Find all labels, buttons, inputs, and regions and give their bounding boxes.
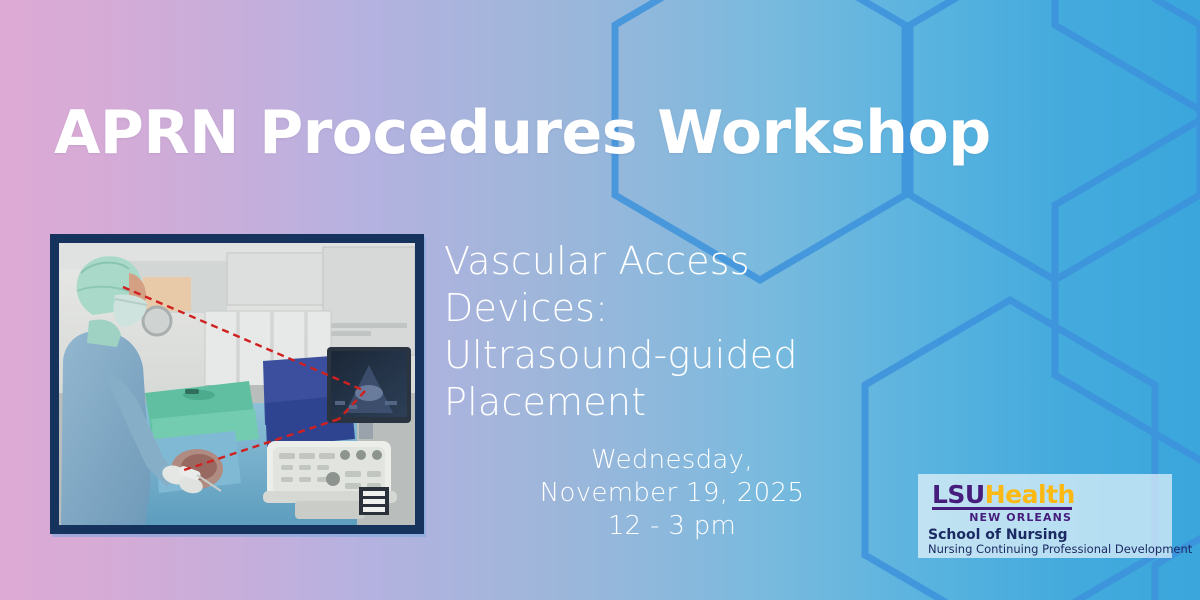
subtitle-line-2: Devices: <box>444 285 864 332</box>
event-datetime: Wednesday, November 19, 2025 12 - 3 pm <box>452 444 892 543</box>
workshop-subtitle: Vascular Access Devices: Ultrasound-guid… <box>444 238 864 426</box>
subtitle-line-4: Placement <box>444 379 864 426</box>
logo-school-text: School of Nursing <box>928 527 1068 543</box>
event-time: 12 - 3 pm <box>452 510 892 543</box>
logo-divider-rule <box>932 507 1072 510</box>
logo-city-text: NEW ORLEANS <box>932 511 1072 524</box>
workshop-photo-frame <box>50 234 424 534</box>
subtitle-line-1: Vascular Access <box>444 238 864 285</box>
logo-health-text: Health <box>985 480 1075 509</box>
subtitle-line-3: Ultrasound-guided <box>444 332 864 379</box>
event-date: November 19, 2025 <box>452 477 892 510</box>
event-day: Wednesday, <box>452 444 892 477</box>
lsu-health-logo: LSUHealth NEW ORLEANS School of Nursing … <box>918 474 1172 558</box>
logo-department-text: Nursing Continuing Professional Developm… <box>928 542 1192 556</box>
logo-wordmark: LSUHealth <box>932 482 1075 507</box>
workshop-photo <box>59 243 415 525</box>
event-banner: APRN Procedures Workshop <box>0 0 1200 600</box>
page-title: APRN Procedures Workshop <box>54 102 991 165</box>
logo-lsu-text: LSU <box>932 480 985 509</box>
